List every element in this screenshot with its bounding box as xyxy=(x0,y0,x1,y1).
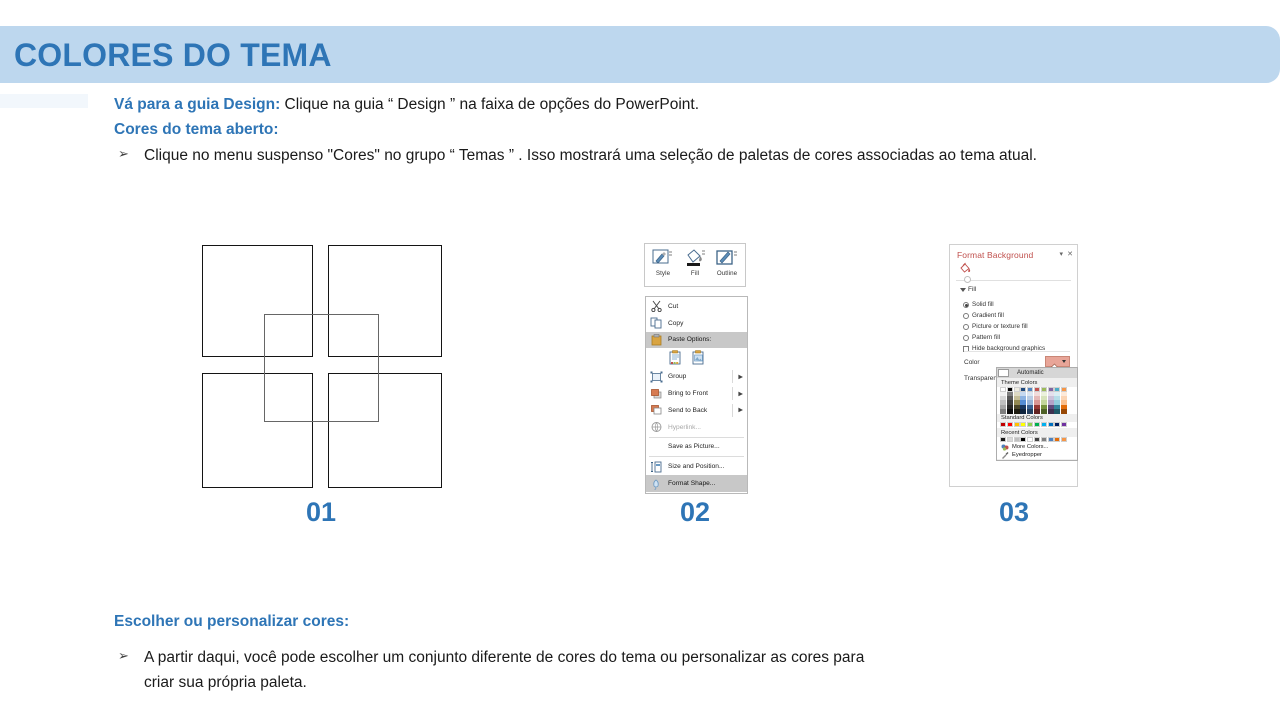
figure-caption-03: 03 xyxy=(954,497,1074,528)
collapse-triangle-icon[interactable] xyxy=(960,288,966,292)
radio-row-picture-fill[interactable]: Picture or texture fill xyxy=(972,323,1028,330)
minimize-icon[interactable]: ▾ xyxy=(1059,250,1063,258)
menu-label-bring-to-front: Bring to Front xyxy=(668,390,708,397)
theme-color-swatch[interactable] xyxy=(1014,409,1020,413)
step-design-line: Vá para a guia Design: Clique na guia “ … xyxy=(114,94,699,115)
color-picker-button[interactable] xyxy=(1045,356,1070,367)
theme-color-swatch[interactable] xyxy=(1000,409,1006,413)
theme-colors-grid[interactable] xyxy=(997,387,1077,414)
theme-color-swatch[interactable] xyxy=(1048,409,1054,413)
chevron-right-icon: ▶ xyxy=(738,373,743,380)
recent-color-swatch[interactable] xyxy=(1054,437,1060,442)
color-dropdown-popup: Automatic Theme Colors Standard Colors R… xyxy=(996,367,1078,461)
recent-color-swatch[interactable] xyxy=(1007,437,1013,442)
menu-divider xyxy=(732,370,733,383)
toolbar-label-style: Style xyxy=(656,270,670,277)
toolbar-label-outline: Outline xyxy=(717,270,737,277)
menu-item-size-and-position[interactable]: Size and Position... xyxy=(646,458,747,475)
theme-color-swatch[interactable] xyxy=(1054,409,1060,413)
radio-label-picture-fill: Picture or texture fill xyxy=(972,323,1028,330)
menu-label-cut: Cut xyxy=(668,303,678,310)
radio-label-solid-fill: Solid fill xyxy=(972,301,994,308)
menu-label-group: Group xyxy=(668,373,686,380)
theme-color-swatch[interactable] xyxy=(1007,409,1013,413)
eyedropper-label: Eyedropper xyxy=(1012,452,1042,458)
group-icon xyxy=(650,371,663,383)
shape-context-menu: Cut Copy Paste Option xyxy=(645,296,748,494)
close-icon[interactable]: ✕ xyxy=(1067,250,1073,258)
recent-colors-label: Recent Colors xyxy=(997,428,1077,437)
dropdown-item-eyedropper[interactable]: Eyedropper xyxy=(997,451,1077,459)
slide-canvas: COLORES DO TEMA Vá para a guia Design: C… xyxy=(0,0,1280,720)
standard-color-swatch[interactable] xyxy=(1007,422,1013,427)
standard-color-swatch[interactable] xyxy=(1061,422,1067,427)
step-cores-heading: Cores do tema aberto: xyxy=(114,119,279,140)
menu-divider xyxy=(732,387,733,400)
menu-item-paste-options[interactable]: Paste Options: xyxy=(646,332,747,349)
theme-color-swatch[interactable] xyxy=(1020,409,1026,413)
toolbar-label-fill: Fill xyxy=(691,270,699,277)
menu-label-save-as-picture: Save as Picture... xyxy=(668,443,720,450)
recent-color-swatch[interactable] xyxy=(1020,437,1026,442)
standard-color-swatch[interactable] xyxy=(1027,422,1033,427)
eyedropper-icon xyxy=(1001,452,1009,459)
radio-solid-fill[interactable] xyxy=(963,302,969,308)
chevron-right-icon: ▶ xyxy=(738,407,743,414)
copy-icon xyxy=(650,317,663,329)
standard-colors-label: Standard Colors xyxy=(997,414,1077,423)
menu-label-send-to-back: Send to Back xyxy=(668,407,707,414)
chevron-down-icon xyxy=(1062,360,1066,363)
bullet-marker-1: ➢ xyxy=(118,144,129,164)
recent-color-swatch[interactable] xyxy=(1061,437,1067,442)
fill-color-icon xyxy=(1050,358,1060,366)
menu-item-bring-to-front[interactable]: Bring to Front ▶ xyxy=(646,385,747,402)
paste-keep-formatting-icon[interactable] xyxy=(668,350,683,366)
shape-style-icon xyxy=(650,247,676,269)
theme-colors-label: Theme Colors xyxy=(997,378,1077,387)
pane-divider-2 xyxy=(964,351,1070,352)
radio-gradient-fill[interactable] xyxy=(963,313,969,319)
decorative-block xyxy=(0,94,88,108)
menu-label-hyperlink: Hyperlink... xyxy=(668,424,701,431)
step-escolher-heading: Escolher ou personalizar cores: xyxy=(114,611,349,632)
square-center-overlay xyxy=(264,314,379,422)
menu-item-send-to-back[interactable]: Send to Back ▶ xyxy=(646,402,747,419)
chevron-right-icon: ▶ xyxy=(738,390,743,397)
toolbar-item-style[interactable]: Style xyxy=(647,247,679,277)
standard-color-swatch[interactable] xyxy=(1014,422,1020,427)
figure-squares-diagram xyxy=(202,245,442,488)
paste-options-row xyxy=(646,348,747,368)
clipboard-icon xyxy=(650,334,663,346)
recent-color-swatch[interactable] xyxy=(1027,437,1033,442)
pane-divider xyxy=(956,280,1071,281)
pane-slider-knob[interactable] xyxy=(964,276,971,283)
radio-label-pattern-fill: Pattern fill xyxy=(972,334,1000,341)
menu-separator xyxy=(649,437,744,438)
menu-item-cut[interactable]: Cut xyxy=(646,298,747,315)
scissors-icon xyxy=(650,300,663,312)
menu-separator xyxy=(649,456,744,457)
standard-color-swatch[interactable] xyxy=(1020,422,1026,427)
bullet-text-2: A partir daqui, você pode escolher um co… xyxy=(144,645,884,695)
standard-color-swatch[interactable] xyxy=(1000,422,1006,427)
recent-color-swatch[interactable] xyxy=(1014,437,1020,442)
theme-color-swatch[interactable] xyxy=(1041,409,1047,413)
recent-color-swatch[interactable] xyxy=(1034,437,1040,442)
size-position-icon xyxy=(650,461,663,473)
menu-item-group[interactable]: Group ▶ xyxy=(646,368,747,385)
more-colors-label: More Colors... xyxy=(1012,444,1048,450)
dropdown-item-automatic[interactable]: Automatic xyxy=(997,368,1077,378)
menu-item-save-as-picture[interactable]: Save as Picture... xyxy=(646,439,747,456)
radio-pattern-fill[interactable] xyxy=(963,335,969,341)
theme-color-swatch[interactable] xyxy=(1061,409,1067,413)
shape-outline-icon xyxy=(714,247,740,269)
automatic-label: Automatic xyxy=(1017,370,1044,376)
recent-color-swatch[interactable] xyxy=(1041,437,1047,442)
recent-color-swatch[interactable] xyxy=(1048,437,1054,442)
fill-section-label: Fill xyxy=(968,286,976,293)
menu-divider xyxy=(732,404,733,417)
bring-to-front-icon xyxy=(650,388,663,400)
more-colors-icon xyxy=(1001,444,1009,451)
figure-caption-01: 01 xyxy=(261,497,381,528)
figure-context-menu: Style Fill xyxy=(644,243,748,488)
radio-picture-fill[interactable] xyxy=(963,324,969,330)
format-background-title: Format Background xyxy=(957,250,1033,260)
standard-color-swatch[interactable] xyxy=(1048,422,1054,427)
shape-fill-icon xyxy=(682,247,708,269)
page-title: COLORES DO TEMA xyxy=(14,36,332,74)
color-label: Color xyxy=(964,359,980,366)
menu-item-copy[interactable]: Copy xyxy=(646,315,747,332)
step-design-heading: Vá para a guia Design: xyxy=(114,96,280,113)
paste-picture-icon[interactable] xyxy=(691,350,706,366)
step-design-text: Clique na guia “ Design ” na faixa de op… xyxy=(280,96,699,113)
format-shape-icon xyxy=(650,478,663,490)
dropdown-item-more-colors[interactable]: More Colors... xyxy=(997,443,1077,451)
radio-label-gradient-fill: Gradient fill xyxy=(972,312,1004,319)
radio-row-gradient-fill[interactable]: Gradient fill xyxy=(972,312,1004,319)
hyperlink-icon xyxy=(650,421,663,433)
menu-item-format-shape[interactable]: Format Shape... xyxy=(646,475,747,492)
theme-color-swatch[interactable] xyxy=(1034,409,1040,413)
menu-label-format-shape: Format Shape... xyxy=(668,480,715,487)
standard-color-swatch[interactable] xyxy=(1041,422,1047,427)
recent-color-swatch[interactable] xyxy=(1000,437,1006,442)
radio-row-solid-fill[interactable]: Solid fill xyxy=(972,301,994,308)
menu-label-paste-options: Paste Options: xyxy=(668,336,711,343)
theme-colors-row-shade-5[interactable] xyxy=(1000,409,1074,413)
automatic-swatch xyxy=(998,369,1009,377)
menu-label-size-and-position: Size and Position... xyxy=(668,463,724,470)
standard-color-swatch[interactable] xyxy=(1034,422,1040,427)
theme-color-swatch[interactable] xyxy=(1027,409,1033,413)
bullet-marker-2: ➢ xyxy=(118,646,129,666)
menu-label-copy: Copy xyxy=(668,320,683,327)
shape-mini-toolbar: Style Fill xyxy=(644,243,746,287)
figure-caption-02: 02 xyxy=(635,497,755,528)
menu-item-hyperlink: Hyperlink... xyxy=(646,419,747,436)
radio-row-pattern-fill[interactable]: Pattern fill xyxy=(972,334,1000,341)
toolbar-item-fill[interactable]: Fill xyxy=(679,247,711,277)
standard-color-swatch[interactable] xyxy=(1054,422,1060,427)
send-to-back-icon xyxy=(650,404,663,416)
bullet-text-1: Clique no menu suspenso "Cores" no grupo… xyxy=(144,143,1084,168)
figure-format-background-pane: Format Background ▾ ✕ Fill Solid fill Gr… xyxy=(949,244,1078,487)
toolbar-item-outline[interactable]: Outline xyxy=(711,247,743,277)
paint-bucket-icon[interactable] xyxy=(958,261,972,273)
